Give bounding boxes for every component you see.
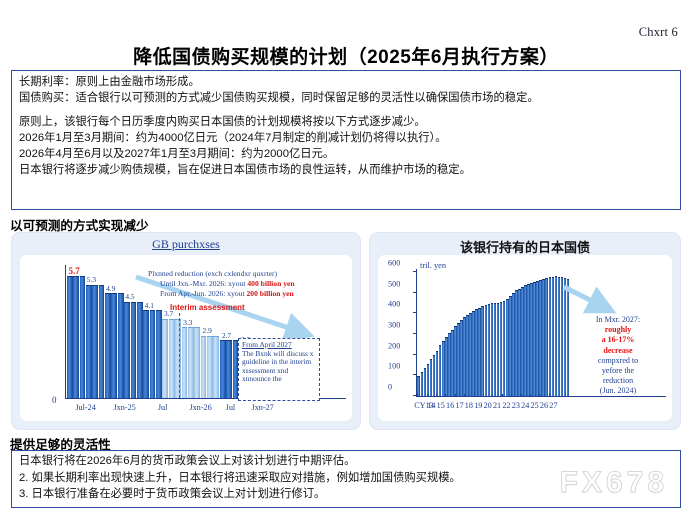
axis-tick-mark	[539, 394, 540, 397]
axis-tick-label: 18	[465, 401, 473, 410]
annotation-line-2-text: Until Jxn.-Mxr. 2026: xyout	[160, 279, 247, 288]
panel-jgb-holdings: 该银行持有的日本国债 tril. yen CY13141516171819202…	[369, 232, 681, 430]
axis-tick-label: Jxn-26	[189, 403, 211, 412]
table-row	[67, 270, 86, 398]
axis-tick-mark	[413, 271, 417, 272]
axis-tick-mark	[511, 394, 512, 397]
flexibility-line-3: 3. 日本银行准备在必要时于货币政策会议上对计划进行修订。	[19, 486, 673, 503]
axis-tick-mark	[413, 312, 417, 313]
axis-tick-mark	[502, 394, 503, 397]
axis-tick-label: 16	[446, 401, 454, 410]
annotation-roughly: roughly	[574, 325, 662, 335]
axis-tick-label: 600	[388, 259, 400, 268]
list-item	[73, 276, 79, 398]
interim-assessment-label: Interim assessment	[170, 303, 245, 312]
list-item	[226, 340, 232, 398]
annotation-line-1: Plxnned reduction (exch cxlendxr quxrter…	[148, 269, 333, 279]
table-row	[86, 270, 105, 398]
axis-tick-label: 21	[493, 401, 501, 410]
policy-line-rate: 长期利率：原则上由金融市场形成。	[19, 74, 673, 90]
axis-tick-label: 19	[474, 401, 482, 410]
list-item	[118, 293, 124, 398]
from-april-2027-callout: From April 2027 The Bxnk will discuss x …	[238, 338, 320, 401]
annotation-line-3: From Apr.-Jun. 2026: xyout 200 billion y…	[148, 289, 333, 299]
policy-line-2026q1: 2026年1月至3月期间：约为4000亿日元（2024年7月制定的削减计划仍将得…	[19, 130, 673, 146]
axis-tick-label: 26	[540, 401, 548, 410]
axis-tick-label: 400	[388, 300, 400, 309]
list-item	[86, 285, 92, 398]
list-item	[111, 293, 117, 398]
policy-line-stability: 日本银行将逐步减少购债规模，旨在促进日本国债市场的良性运转，从而维护市场的稳定。	[19, 162, 673, 178]
left-chart-title: GB purchxses	[12, 233, 360, 252]
policy-line-purchase: 国债购买：适合银行以可预测的方式减少国债购买规模，同时保留足够的灵活性以确保国债…	[19, 90, 673, 106]
left-chart-annotation: Plxnned reduction (exch cxlendxr quxrter…	[148, 269, 333, 299]
annotation-compared-to: compxred to	[574, 356, 662, 366]
policy-line-2026q2: 2026年4月至6月以及2027年1月至3月期间：约为2000亿日元。	[19, 146, 673, 162]
axis-tick-mark	[413, 354, 417, 355]
axis-tick-label: 500	[388, 279, 400, 288]
axis-tick-label: Jxn-27	[251, 403, 273, 412]
left-chart-x-tick-labels: Jul-24Jxn-25JulJxn-26JulJxn-27	[66, 403, 296, 415]
axis-tick-label: 23	[512, 401, 520, 410]
axis-tick-label: 25	[530, 401, 538, 410]
axis-tick-label: 24	[521, 401, 529, 410]
right-chart-annotation: In Mxr. 2027: roughly a 16-17% decrease …	[574, 315, 662, 397]
bar-value-label: 4.9	[106, 284, 115, 293]
interim-assessment-divider	[179, 313, 180, 398]
axis-tick-mark	[521, 394, 522, 397]
annotation-line-2-value: 400 billion yen	[247, 279, 294, 288]
list-item	[105, 293, 111, 398]
axis-tick-mark	[483, 394, 484, 397]
bar-value-label: 5.3	[87, 275, 96, 284]
flexibility-box: 日本银行将在2026年6月的货币政策会议上对该计划进行中期评估。 2. 如果长期…	[11, 450, 681, 508]
left-chart-zero-label: 0	[52, 395, 57, 405]
list-item	[92, 285, 98, 398]
axis-tick-label: 14	[427, 401, 435, 410]
axis-tick-mark	[413, 333, 417, 334]
right-chart-plot: tril. yen CY1314151617181920212223242526…	[378, 255, 672, 421]
left-chart-plot: 0 5.75.34.94.54.13.73.32.92.72.52.32.1 P…	[20, 255, 352, 421]
axis-tick-label: 100	[388, 362, 400, 371]
right-chart-x-tick-labels: CY131415161718192021222324252627	[408, 401, 668, 413]
axis-tick-label: 300	[388, 321, 400, 330]
axis-tick-label: 200	[388, 341, 400, 350]
right-chart-unit-label: tril. yen	[420, 261, 446, 270]
list-item	[124, 302, 130, 398]
spacer	[19, 106, 673, 114]
list-item	[99, 285, 105, 398]
flexibility-line-2: 2. 如果长期利率出现快速上升，日本银行将迅速采取应对措施，例如增加国债购买规模…	[19, 470, 673, 487]
axis-tick-mark	[549, 394, 550, 397]
axis-tick-mark	[492, 394, 493, 397]
axis-tick-mark	[445, 394, 446, 397]
annotation-line-3-value: 200 billion yen	[247, 289, 294, 298]
slide-page: Chxrt 6 降低国债购买规模的计划（2025年6月执行方案） 长期利率：原则…	[0, 0, 692, 514]
axis-tick-mark	[413, 374, 417, 375]
annotation-before-the: yefore the	[574, 366, 662, 376]
bar-value-label: 5.7	[69, 266, 80, 276]
annotation-decrease: decrease	[574, 346, 662, 356]
axis-tick-mark	[530, 394, 531, 397]
right-chart-title: 该银行持有的日本国债	[370, 233, 680, 256]
right-chart-bars	[417, 272, 569, 396]
axis-tick-mark	[455, 394, 456, 397]
axis-tick-label: Jul-24	[75, 403, 95, 412]
annotation-reduction: reduction	[574, 376, 662, 386]
axis-tick-mark	[474, 394, 475, 397]
axis-tick-mark	[413, 292, 417, 293]
axis-tick-label: 15	[437, 401, 445, 410]
annotation-line-2: Until Jxn.-Mxr. 2026: xyout 400 billion …	[148, 279, 333, 289]
panel-gb-purchases: GB purchxses 0 5.75.34.94.54.13.73.32.92…	[11, 232, 361, 430]
axis-tick-label: 20	[484, 401, 492, 410]
axis-tick-label: Jul	[158, 403, 168, 412]
callout-body: The Bxnk will discuss x guideline in the…	[242, 350, 316, 384]
axis-tick-mark	[464, 394, 465, 397]
page-title: 降低国债购买规模的计划（2025年6月执行方案）	[0, 42, 692, 69]
axis-tick-mark	[436, 394, 437, 397]
annotation-mar-2027: In Mxr. 2027:	[574, 315, 662, 325]
axis-tick-label: 17	[455, 401, 463, 410]
list-item	[67, 276, 73, 398]
chart-number-label: Chxrt 6	[639, 25, 678, 40]
axis-tick-label: Jul	[226, 403, 236, 412]
axis-tick-label: 22	[502, 401, 510, 410]
list-item	[220, 340, 226, 398]
policy-line-principle: 原则上，该银行每个日历季度内购买日本国债的计划规模将按以下方式逐步减少。	[19, 114, 673, 130]
annotation-date: (Jun. 2024)	[574, 386, 662, 396]
axis-tick-label: 0	[388, 383, 392, 392]
axis-tick-label: 27	[549, 401, 557, 410]
axis-tick-mark	[427, 394, 428, 397]
annotation-line-3-text: From Apr.-Jun. 2026: xyout	[160, 289, 247, 298]
annotation-percent: a 16-17%	[574, 335, 662, 345]
flexibility-line-1: 日本银行将在2026年6月的货币政策会议上对该计划进行中期评估。	[19, 453, 673, 470]
axis-tick-mark	[417, 394, 418, 397]
policy-summary-box: 长期利率：原则上由金融市场形成。 国债购买：适合银行以可预测的方式减少国债购买规…	[11, 70, 681, 210]
axis-tick-mark	[413, 395, 417, 396]
axis-tick-label: Jxn-25	[113, 403, 135, 412]
list-item	[80, 276, 86, 398]
